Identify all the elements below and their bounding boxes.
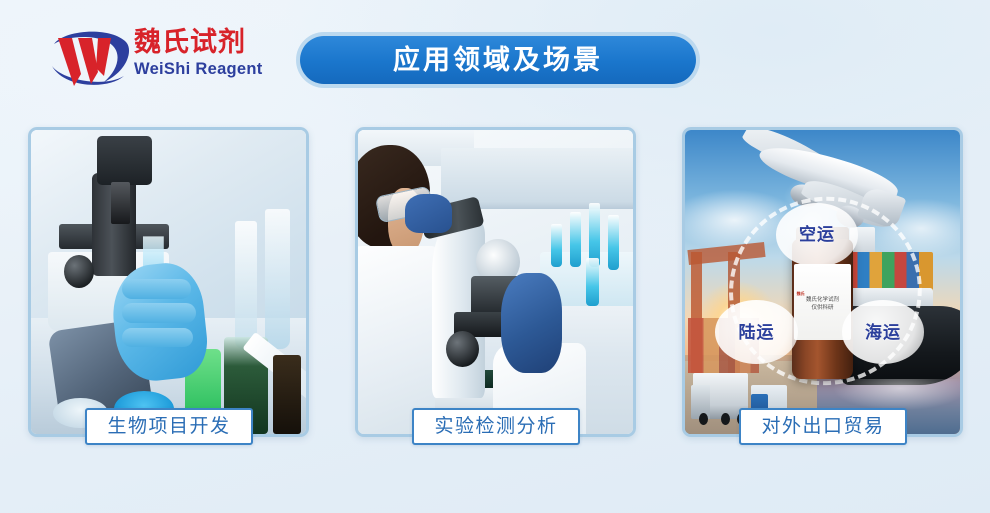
page-title: 应用领域及场景 xyxy=(393,47,603,74)
section-title-inner: 应用领域及场景 xyxy=(300,36,696,84)
card-export-trade[interactable]: 魏氏 魏氏化学试剂 仅供科研 空运 陆运 海运 xyxy=(682,127,963,437)
caption-bio-project-development[interactable]: 生物项目开发 xyxy=(85,408,253,445)
shipping-mode-land-label: 陆运 xyxy=(739,324,775,341)
logistics-airplane-cargo-ship-trucks-with-reagent-bottle-image: 魏氏 魏氏化学试剂 仅供科研 空运 陆运 海运 xyxy=(685,130,960,434)
slide-root: 魏氏试剂 WeiShi Reagent 应用领域及场景 xyxy=(0,0,990,513)
scientist-using-microscope-with-test-tube-rack-image xyxy=(358,130,633,434)
caption-lab-testing-analysis[interactable]: 实验检测分析 xyxy=(412,408,580,445)
bottle-label-line1: 魏氏化学试剂 xyxy=(806,297,839,304)
shipping-mode-land: 陆运 xyxy=(715,300,798,364)
brand-name-en: WeiShi Reagent xyxy=(134,58,284,80)
brand-name-cn: 魏氏试剂 xyxy=(134,26,284,58)
card-bio-project-development[interactable] xyxy=(28,127,309,437)
caption-label: 生物项目开发 xyxy=(107,417,230,436)
card-lab-testing-analysis[interactable] xyxy=(355,127,636,437)
shipping-mode-air-label: 空运 xyxy=(799,226,835,243)
brand-logo[interactable]: 魏氏试剂 WeiShi Reagent xyxy=(48,26,278,92)
shipping-mode-air: 空运 xyxy=(776,203,859,267)
bottle-label-line2: 仅供科研 xyxy=(811,305,833,312)
caption-label: 对外出口贸易 xyxy=(761,417,884,436)
brand-wordmark: 魏氏试剂 WeiShi Reagent xyxy=(134,26,284,80)
page-header: 魏氏试剂 WeiShi Reagent 应用领域及场景 xyxy=(0,0,990,118)
application-cards: 魏氏 魏氏化学试剂 仅供科研 空运 陆运 海运 生物项目开发 实验检测分析 xyxy=(0,127,990,513)
weishi-w-swoosh-logo-icon xyxy=(48,28,134,90)
caption-label: 实验检测分析 xyxy=(434,417,557,436)
gloved-hand-holding-blue-flask-with-microscope-image xyxy=(31,130,306,434)
caption-export-trade[interactable]: 对外出口贸易 xyxy=(739,408,907,445)
shipping-mode-sea-label: 海运 xyxy=(865,324,901,341)
section-title-pill: 应用领域及场景 xyxy=(296,32,700,88)
bottle-label-logo: 魏氏 xyxy=(797,292,805,296)
shipping-mode-sea: 海运 xyxy=(842,300,925,364)
